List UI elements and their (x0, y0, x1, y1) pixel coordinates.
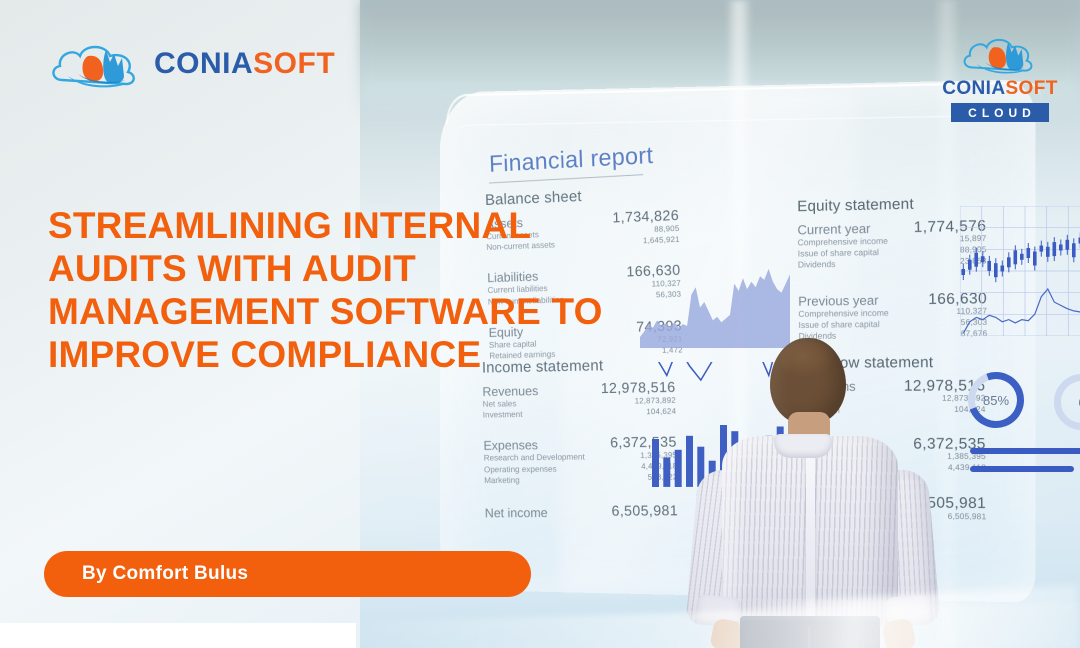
progress-bar-2 (970, 466, 1074, 472)
progress-bar-1 (970, 448, 1080, 454)
logo-wordmark: CONIASOFT (154, 47, 335, 81)
cloud-bird-icon (48, 36, 144, 92)
wordmark-primary: CONIA (154, 47, 253, 80)
bottom-left-white-band (0, 623, 356, 648)
wordmark-secondary: SOFT (1005, 78, 1057, 99)
report-group: Current year 1,774,576 Comprehensive inc… (797, 218, 986, 271)
logo-right[interactable]: CONIASOFT CLOUD (936, 30, 1064, 122)
report-title: Financial report (489, 142, 654, 179)
report-group: Net income 6,505,981 (485, 504, 679, 520)
wordmark-primary: CONIA (942, 78, 1005, 99)
gauge-arc (959, 363, 1033, 437)
sub-label: Dividends (798, 257, 987, 272)
shirt-collar (774, 434, 832, 458)
group-amount: 6,505,981 (611, 503, 678, 519)
poster-canvas: Financial report Balance sheet Assets 1,… (0, 0, 1080, 648)
author-badge: By Comfort Bulus (44, 551, 531, 597)
sub-amount: 6,505,981 (948, 512, 987, 522)
wordmark-secondary: SOFT (253, 47, 335, 80)
logo-left[interactable]: CONIASOFT (48, 36, 335, 92)
page-title: STREAMLINING INTERNAL AUDITS WITH AUDIT … (48, 205, 668, 377)
logo-wordmark: CONIASOFT (936, 78, 1064, 100)
section-equity-statement: Equity statement Current year 1,774,576 … (797, 194, 987, 342)
gauge-group: 85% 6 (962, 372, 1080, 478)
cloud-badge: CLOUD (951, 103, 1049, 122)
cloud-bird-icon (960, 30, 1040, 78)
gauge-arc (1043, 363, 1080, 442)
section-heading: Equity statement (797, 194, 986, 215)
candlestick-chart (960, 206, 1080, 336)
